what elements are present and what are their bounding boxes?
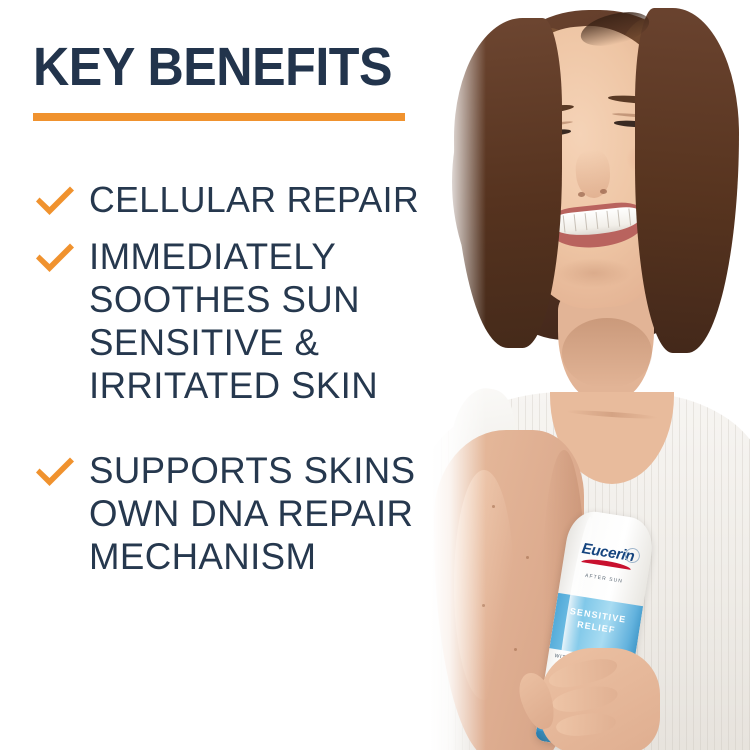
hair-front-right: [635, 8, 739, 353]
hair-front-left: [454, 18, 562, 348]
header: KEY BENEFITS: [33, 38, 453, 96]
skin-freckle: [482, 604, 485, 607]
arm-highlight: [454, 470, 514, 700]
benefit-label: IMMEDIATELY SOOTHES SUN SENSITIVE & IRRI…: [89, 235, 378, 407]
skin-freckle: [526, 556, 529, 559]
chin-shadow: [556, 258, 632, 288]
skin-freckle: [492, 505, 495, 508]
check-icon: [33, 449, 89, 489]
check-icon: [33, 235, 89, 275]
page-title: KEY BENEFITS: [33, 38, 424, 96]
title-underline-rule: [33, 113, 405, 121]
benefit-item: IMMEDIATELY SOOTHES SUN SENSITIVE & IRRI…: [33, 235, 453, 407]
benefit-item: CELLULAR REPAIR: [33, 178, 453, 221]
nostril-right: [600, 189, 607, 194]
teeth-separations: [553, 206, 641, 239]
check-icon: [33, 178, 89, 218]
skin-freckle: [514, 648, 517, 651]
benefits-list: CELLULAR REPAIR IMMEDIATELY SOOTHES SUN …: [33, 178, 453, 592]
key-benefits-panel: Eucerin AFTER SUN SENSITIVE RELIEF WITH …: [0, 0, 750, 750]
benefit-item: SUPPORTS SKINS OWN DNA REPAIR MECHANISM: [33, 449, 453, 578]
benefit-label: SUPPORTS SKINS OWN DNA REPAIR MECHANISM: [89, 449, 415, 578]
neck-shadow: [562, 318, 652, 388]
benefit-label: CELLULAR REPAIR: [89, 178, 419, 221]
model-product-photo: Eucerin AFTER SUN SENSITIVE RELIEF WITH …: [430, 0, 750, 750]
nostril-left: [578, 192, 585, 197]
